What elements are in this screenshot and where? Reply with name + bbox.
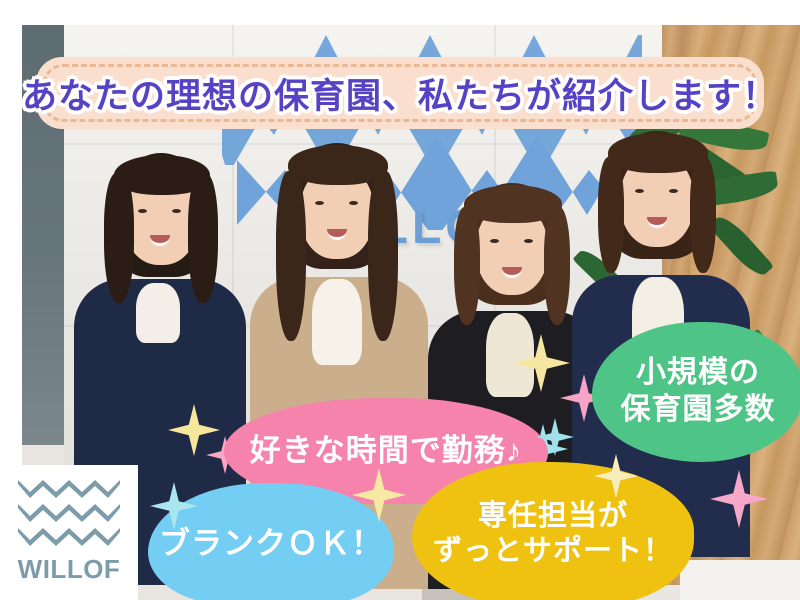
badge-small-scale: 小規模の 保育園多数 [592,322,800,462]
staff-2-blouse [312,279,362,365]
willof-wordmark: WILLOF [18,554,121,585]
staff-2-hair-right [368,171,398,341]
badge-flexible-hours-line-1: 好きな時間で勤務♪ [250,432,523,470]
badge-dedicated-support-line-2: ずっとサポート！ [433,534,673,569]
headline-banner: あなたの理想の保育園、私たちが紹介します！ [36,57,764,129]
willof-chevron-icon [18,480,120,550]
staff-4-hair-left [598,157,624,273]
badge-dedicated-support: 専任担当が ずっとサポート！ [412,462,694,600]
staff-1-hair-right [188,173,218,303]
staff-3-blouse [486,313,534,397]
staff-4-hair-right [690,157,716,273]
staff-3-hair-left [454,207,480,325]
floor-strip [680,560,800,600]
badge-small-scale-line-1: 小規模の [621,355,776,392]
staff-1-hair-left [104,173,134,303]
staff-1-blouse [136,283,180,343]
staff-2-hair-left [276,171,306,341]
willof-logo-card: WILLOF [0,465,138,600]
headline-text: あなたの理想の保育園、私たちが紹介します！ [22,68,778,119]
badge-blank-ok: ブランクＯＫ！ [148,483,394,600]
staff-2-bangs [288,145,388,185]
badge-dedicated-support-line-1: 専任担当が [433,499,673,534]
badge-small-scale-line-2: 保育園多数 [621,392,776,429]
advertisement-banner: WILLOF [0,0,800,600]
badge-blank-ok-line-1: ブランクＯＫ！ [159,525,383,563]
